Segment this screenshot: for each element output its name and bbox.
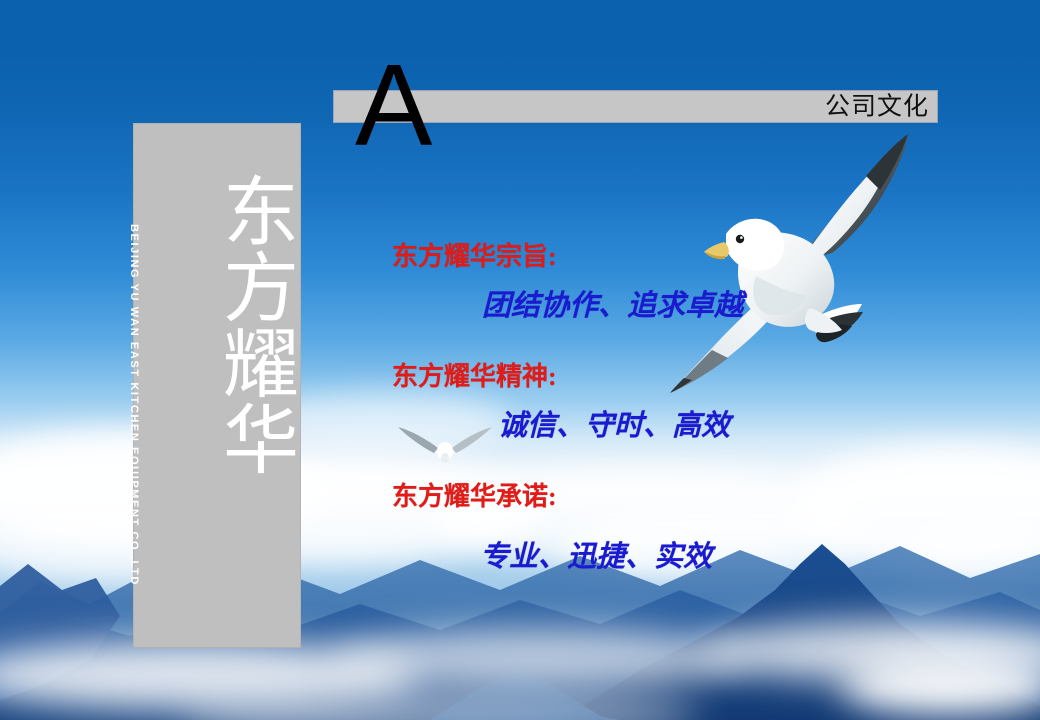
culture-block: 东方耀华承诺: 专业、迅捷、实效 xyxy=(392,483,712,573)
brand-panel: 东方耀华 BEIJING YU WAN EAST KITCHEN EQUIPME… xyxy=(133,123,301,648)
slide-canvas: 公司文化 A 东方耀华 BEIJING YU WAN EAST KITCHEN … xyxy=(0,0,1040,720)
culture-heading: 东方耀华宗旨: xyxy=(392,243,743,272)
culture-motto: 团结协作、追求卓越 xyxy=(482,291,743,323)
company-name-cn: 东方耀华 xyxy=(220,172,304,476)
culture-motto: 诚信、守时、高效 xyxy=(498,411,730,443)
culture-motto: 专业、迅捷、实效 xyxy=(480,542,712,574)
culture-heading: 东方耀华承诺: xyxy=(392,483,712,512)
section-letter: A xyxy=(355,47,432,163)
culture-heading: 东方耀华精神: xyxy=(392,363,730,392)
culture-block: 东方耀华宗旨: 团结协作、追求卓越 xyxy=(392,243,743,322)
culture-block: 东方耀华精神: 诚信、守时、高效 xyxy=(392,363,730,442)
section-title: 公司文化 xyxy=(825,94,929,119)
company-name-en: BEIJING YU WAN EAST KITCHEN EQUIPMENT CO… xyxy=(128,224,140,604)
